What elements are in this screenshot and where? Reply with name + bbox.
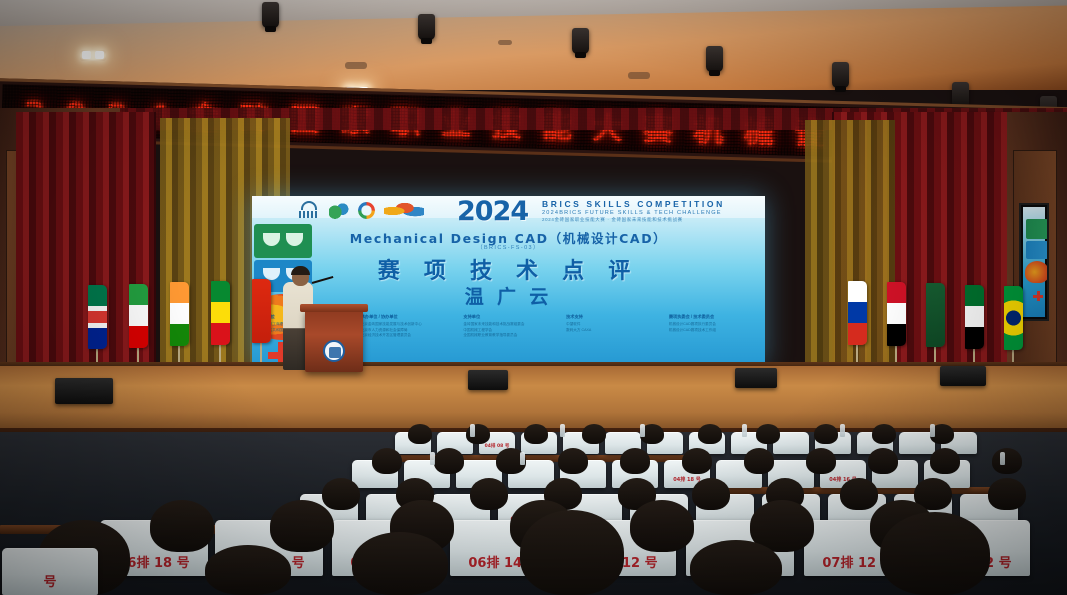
stage-light-fixture (706, 46, 723, 72)
audience-member-head (698, 424, 722, 444)
event-code: （BRICS-FS-03） (252, 243, 765, 251)
audience-member-head (582, 424, 606, 444)
audience-member-head (520, 510, 624, 595)
audience-member-head (692, 478, 730, 510)
audience-member-head (150, 500, 214, 552)
audience-member-head (992, 448, 1022, 474)
audience-member-head (690, 540, 782, 595)
screen-credit-column: 承办单位 / 协办单位北京金砖国家技能发展与技术创新中心 北京市人力资源和社会保… (361, 314, 451, 339)
water-bottle (470, 424, 475, 437)
flag-india (170, 282, 189, 346)
ceiling-vent (498, 40, 512, 45)
audience-member-head (352, 532, 448, 595)
audience-member-head (840, 478, 878, 510)
water-bottle (430, 452, 435, 465)
side-display-monitor (1019, 203, 1049, 321)
flag-uae (965, 285, 984, 349)
audience-member-head (806, 448, 836, 474)
brics-emblem-icon (298, 201, 320, 219)
credit-body: 中望软件 数码大方 CAXA (566, 322, 656, 333)
audience-member-head (408, 424, 432, 444)
water-bottle (640, 424, 645, 437)
screen-logo-row (298, 200, 424, 220)
audience-member-head (524, 424, 548, 444)
water-bottle (930, 424, 935, 437)
audience-member-head (322, 478, 360, 510)
flag-china (252, 279, 271, 343)
credit-heading: 支持单位 (463, 314, 553, 320)
ceiling-soffit (0, 0, 1067, 26)
audience-member-head (872, 424, 896, 444)
audience-member-head (756, 424, 780, 444)
audience-member-head (682, 448, 712, 474)
audience-member-head (868, 448, 898, 474)
flag-iran (129, 284, 148, 348)
stage-floor (0, 366, 1067, 432)
water-bottle (560, 424, 565, 437)
flag-brazil (1004, 286, 1023, 350)
screen-credit-column: 技术支持中望软件 数码大方 CAXA (566, 314, 656, 339)
ceiling-vent (628, 72, 650, 79)
auditorium-photo: 2 0 2 4 金 砖 国 家 职 业 技 能 大 赛 机 械 设 计 C A … (0, 0, 1067, 595)
audience-member-head (558, 448, 588, 474)
credit-body: 金砖国家未来技能和技术挑战赛组委会 中国机械工程学会 全国机械职业教育教学指导委… (463, 322, 553, 339)
competition-subtitle-en: 2024BRICS FUTURE SKILLS & TECH CHALLENGE (542, 210, 752, 216)
stage-light-fixture (262, 2, 279, 28)
side-display-swoosh (1025, 261, 1049, 283)
flag-egypt (887, 282, 906, 346)
stage-light-fixture (572, 28, 589, 54)
audience-member-head (470, 478, 508, 510)
podium-top (300, 304, 368, 312)
audience-member-head (205, 545, 291, 595)
water-bottle (1000, 452, 1005, 465)
flag-russia (848, 281, 867, 345)
organizer-leaf-icon (329, 202, 349, 219)
right-gold-drape (805, 120, 895, 385)
audience-member-head (930, 448, 960, 474)
competition-subtitle-cn: 2024金砖国家职业技能大赛 · 金砖国家未来技能和技术挑战赛 (542, 217, 752, 223)
screen-credit-column: 赛项执委会 / 技术委员会机械设计CAD赛项执行委员会 机械设计CAD赛项技术工… (669, 314, 759, 339)
audience-member-head (880, 512, 990, 595)
screen-year: 2024 (457, 196, 528, 227)
ceiling-vent (345, 62, 367, 69)
screen-credit-column: 支持单位金砖国家未来技能和技术挑战赛组委会 中国机械工程学会 全国机械职业教育教… (463, 314, 553, 339)
five-ring-icon (358, 202, 375, 219)
audience-member-head (630, 500, 694, 552)
audience-member-head (744, 448, 774, 474)
side-display-content (1023, 207, 1045, 317)
stage-equipment-case (55, 378, 113, 404)
audience-member-head (434, 448, 464, 474)
flag-south-africa (88, 285, 107, 349)
ceiling (0, 0, 1067, 90)
water-bottle (742, 424, 747, 437)
stage-floor-monitor (735, 368, 777, 388)
side-display-blue-block (1026, 241, 1048, 259)
stage-floor-monitor (468, 370, 508, 390)
side-display-green-block (1026, 219, 1048, 239)
audience-member-head (620, 448, 650, 474)
credit-heading: 技术支持 (566, 314, 656, 320)
flag-saudi-arabia (926, 283, 945, 347)
audience-seat: 号 (2, 548, 98, 595)
stage-light-fixture (418, 14, 435, 40)
podium (305, 310, 363, 372)
side-display-cross-icon (1033, 291, 1043, 301)
credit-heading: 赛项执委会 / 技术委员会 (669, 314, 759, 320)
stage-floor-monitor (940, 366, 986, 386)
credit-heading: 承办单位 / 协办单位 (361, 314, 451, 320)
stage-light-fixture (832, 62, 849, 88)
event-title-cn: 赛 项 技 术 点 评 (252, 253, 765, 285)
audience-member-head (988, 478, 1026, 510)
credit-body: 北京金砖国家技能发展与技术创新中心 北京市人力资源和社会保障局 北京经济技术开发… (361, 322, 451, 339)
competition-swirl-icon (384, 200, 424, 220)
audience-member-head (814, 424, 838, 444)
water-bottle (840, 424, 845, 437)
screen-competition-name: BRICS SKILLS COMPETITION 2024BRICS FUTUR… (542, 199, 752, 223)
ceiling-downlight (80, 50, 106, 61)
credit-body: 机械设计CAD赛项执行委员会 机械设计CAD赛项技术工作组 (669, 322, 759, 333)
podium-emblem-icon (323, 340, 345, 362)
flag-ethiopia (211, 281, 230, 345)
audience-member-head (372, 448, 402, 474)
seat-number-label: 号 (2, 571, 98, 590)
audience-member-head (270, 500, 334, 552)
competition-title-en: BRICS SKILLS COMPETITION (542, 199, 752, 209)
water-bottle (520, 452, 525, 465)
